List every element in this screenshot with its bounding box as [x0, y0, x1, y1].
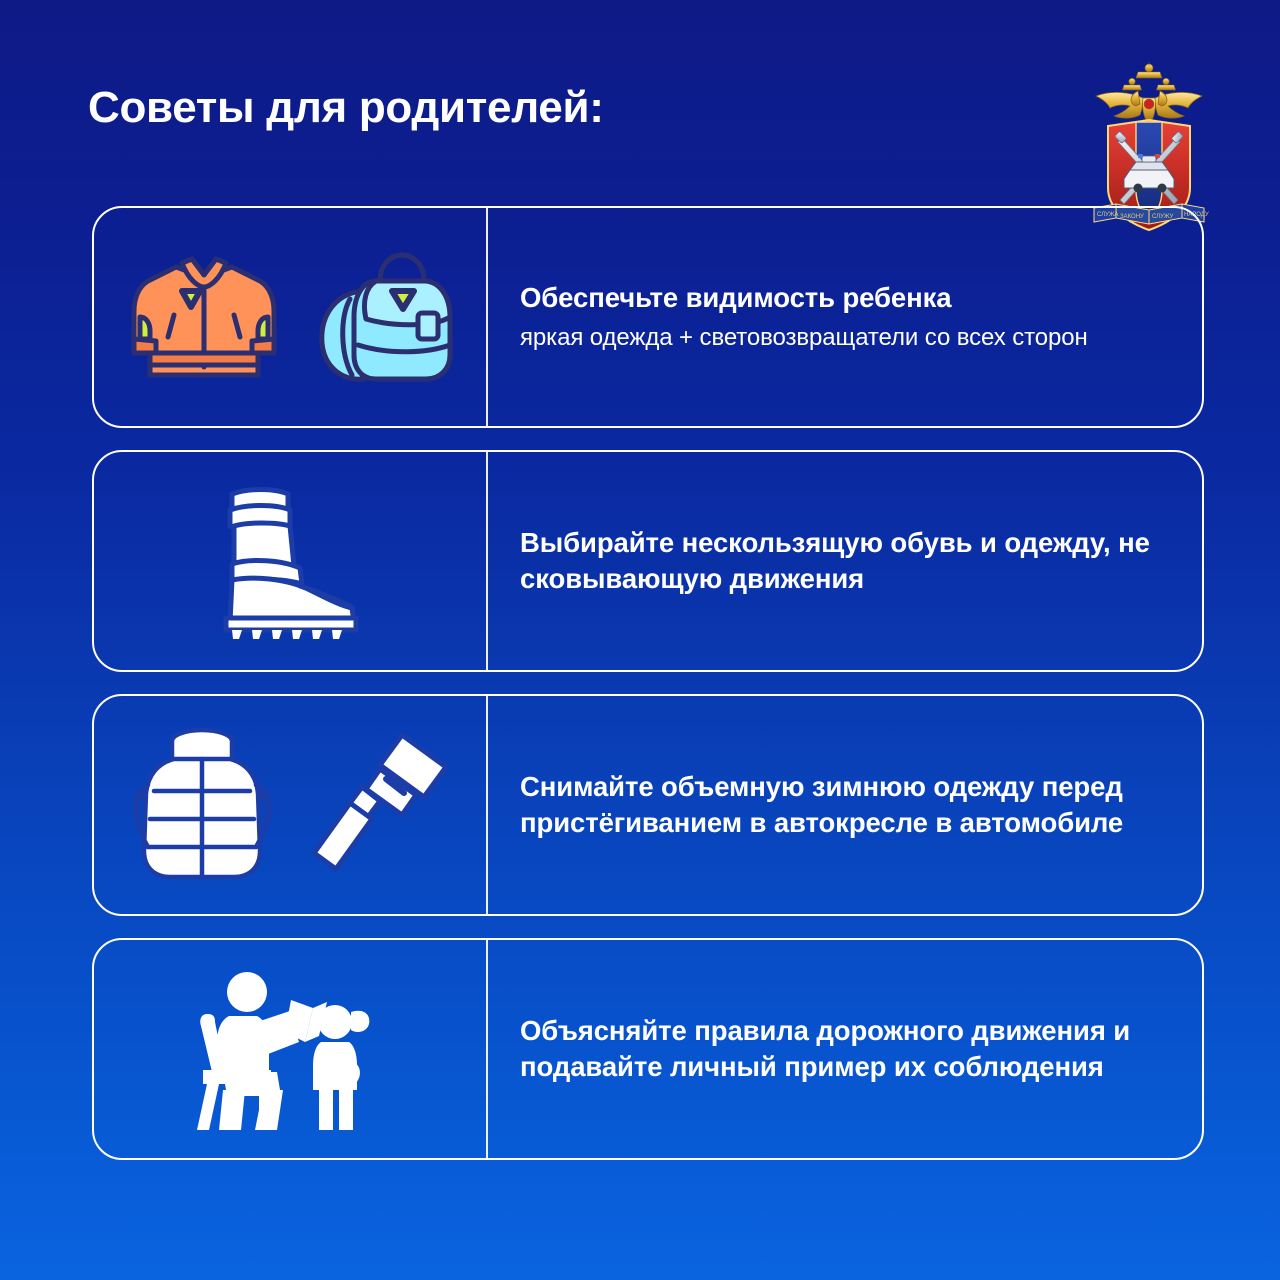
tip-card-text-area: Выбирайте нескользящую обувь и одежду, н…: [488, 452, 1202, 670]
tip-heading: Объясняйте правила дорожного движения и …: [520, 1013, 1164, 1085]
eagle-crowns: [1123, 62, 1176, 90]
backpack-icon: [314, 241, 460, 393]
tip-card-text-area: Обеспечьте видимость ребенка яркая одежд…: [488, 208, 1202, 426]
card-divider: [486, 940, 488, 1158]
seatbelt-buckle-icon: [306, 725, 456, 885]
tip-card-teach-rules[interactable]: Объясняйте правила дорожного движения и …: [92, 938, 1204, 1160]
card-divider: [486, 452, 488, 670]
tip-card-carseat[interactable]: Снимайте объемную зимнюю одежду перед пр…: [92, 694, 1204, 916]
tip-card-visibility[interactable]: Обеспечьте видимость ребенка яркая одежд…: [92, 206, 1204, 428]
tip-card-icon-area: [94, 696, 486, 914]
card-divider: [486, 208, 488, 426]
card-divider: [486, 696, 488, 914]
tips-list: Обеспечьте видимость ребенка яркая одежд…: [92, 206, 1204, 1182]
tip-heading: Выбирайте нескользящую обувь и одежду, н…: [520, 525, 1164, 597]
tip-heading: Обеспечьте видимость ребенка: [520, 280, 1164, 316]
tip-card-footwear[interactable]: Выбирайте нескользящую обувь и одежду, н…: [92, 450, 1204, 672]
tip-card-icon-area: [94, 452, 486, 670]
tip-card-text-area: Снимайте объемную зимнюю одежду перед пр…: [488, 696, 1202, 914]
tip-card-icon-area: [94, 208, 486, 426]
tip-card-text-area: Объясняйте правила дорожного движения и …: [488, 940, 1202, 1158]
tip-heading: Снимайте объемную зимнюю одежду перед пр…: [520, 769, 1164, 841]
boot-icon: [190, 480, 390, 642]
tip-subtitle: яркая одежда + световозвращатели со всех…: [520, 322, 1164, 354]
tip-card-icon-area: [94, 940, 486, 1158]
puffer-jacket-icon: [124, 719, 280, 891]
jacket-icon: [120, 241, 288, 393]
page-title: Советы для родителей:: [88, 83, 604, 133]
parent-teaching-child-icon: [185, 964, 395, 1134]
